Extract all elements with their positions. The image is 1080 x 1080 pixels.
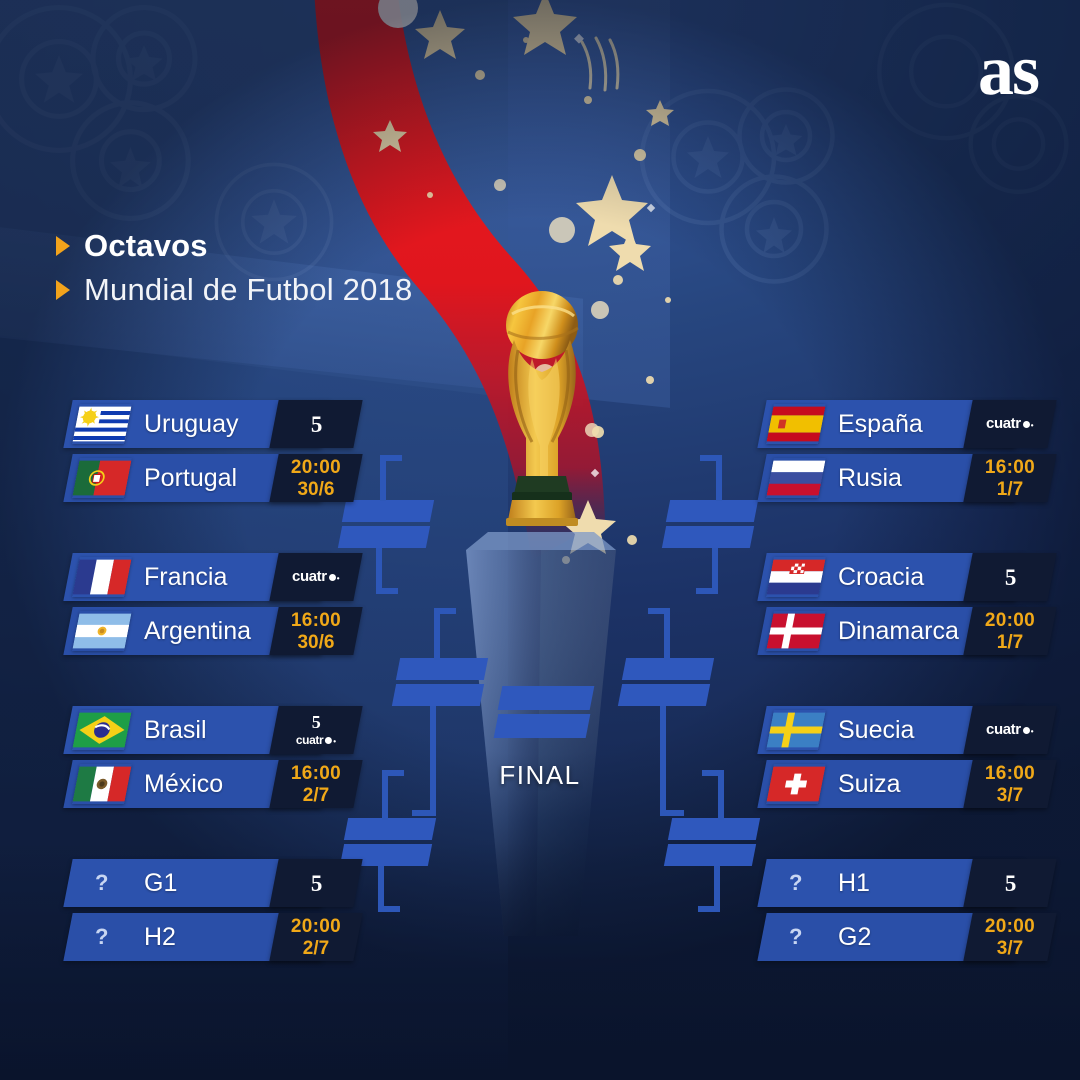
match-row[interactable]: Francia cuatr• [68,553,326,601]
connector-left-c [434,608,440,660]
channel-panel[interactable]: cuatr• [269,553,362,601]
qf-slot-left-1-top[interactable] [342,500,434,522]
match-row[interactable]: ? H2 20:00 2/7 [68,913,326,961]
match: ? H1 5 ? G2 20:00 3/7 [762,859,1020,967]
match-time: 20:00 [985,917,1035,936]
match-row[interactable]: Suiza 16:00 3/7 [762,760,1020,808]
connector-left-a2 [380,455,402,461]
unknown-team-flag: ? [72,863,132,903]
channel-panel[interactable]: 5 [269,400,362,448]
telecinco-logo: 5 [1005,565,1016,590]
qf-slot-left-3-top[interactable] [344,818,436,840]
telecinco-logo: 5 [1005,871,1016,896]
match-time: 16:00 [985,764,1035,783]
connector-right-c [664,608,670,660]
connector-right-e2 [702,770,724,776]
match-date: 1/7 [985,480,1035,499]
unknown-team-flag: ? [766,917,826,957]
flag-suiza [766,764,826,804]
flag-espana [766,404,826,444]
connector-right-f2 [698,906,720,912]
channel-panel[interactable]: 5 [269,859,362,907]
match-time-panel: 20:00 30/6 [269,454,362,502]
qf-slot-right-2-top[interactable] [622,658,714,680]
match-row[interactable]: Argentina 16:00 30/6 [68,607,326,655]
qf-slot-right-1-top[interactable] [666,500,758,522]
match-time-panel: 20:00 3/7 [963,913,1056,961]
connector-right-d2 [660,810,684,816]
final-slot-bottom[interactable] [494,714,591,738]
flag-rusia [766,458,826,498]
final-label: FINAL [465,760,615,791]
connector-right-a [716,455,722,501]
match-row[interactable]: Dinamarca 20:00 1/7 [762,607,1020,655]
match-time-panel: 16:00 3/7 [963,760,1056,808]
match-row[interactable]: Portugal 20:00 30/6 [68,454,326,502]
channel-panel[interactable]: 5 [963,859,1056,907]
match-row[interactable]: ? G1 5 [68,859,326,907]
connector-left-b2 [376,588,398,594]
connector-left-d2 [412,810,436,816]
connector-left-e [382,770,388,820]
match-date: 3/7 [985,939,1035,958]
channel-panel[interactable]: cuatr• [963,400,1056,448]
match-time: 16:00 [985,458,1035,477]
flag-croacia [766,557,826,597]
cuatro-logo: cuatr• [986,722,1033,737]
connector-right-a2 [700,455,722,461]
qf-slot-right-3-top[interactable] [668,818,760,840]
match-row[interactable]: ? G2 20:00 3/7 [762,913,1020,961]
connector-left-a [380,455,386,501]
match-time: 20:00 [291,458,341,477]
qf-slot-left-2-bottom[interactable] [392,684,484,706]
match: Uruguay 5 Portugal 20:00 30/6 [68,400,326,508]
match-row[interactable]: Rusia 16:00 1/7 [762,454,1020,502]
match-time: 16:00 [291,611,341,630]
flag-suecia [766,710,826,750]
connector-right-b2 [696,588,718,594]
match-time-panel: 20:00 2/7 [269,913,362,961]
match-date: 30/6 [291,480,341,499]
match-time-panel: 16:00 2/7 [269,760,362,808]
connector-left-e2 [382,770,404,776]
match-row[interactable]: España cuatr• [762,400,1020,448]
match-row[interactable]: Suecia cuatr• [762,706,1020,754]
match: Brasil 5 cuatr• México 16:00 2/7 [68,706,326,814]
match-row[interactable]: México 16:00 2/7 [68,760,326,808]
match-time: 20:00 [985,611,1035,630]
qf-slot-left-2-top[interactable] [396,658,488,680]
cuatro-logo: cuatr• [986,416,1033,431]
flag-uruguay [72,404,132,444]
match-time-panel: 16:00 30/6 [269,607,362,655]
channel-panel[interactable]: 5 cuatr• [269,706,362,754]
match-time: 16:00 [291,764,341,783]
match-time-panel: 20:00 1/7 [963,607,1056,655]
cuatro-logo: cuatr• [292,569,339,584]
channel-panel[interactable]: cuatr• [963,706,1056,754]
match-time-panel: 16:00 1/7 [963,454,1056,502]
flag-portugal [72,458,132,498]
match-date: 2/7 [291,939,341,958]
flag-argentina [72,611,132,651]
connector-right-d [660,706,666,816]
qf-slot-right-1-bottom[interactable] [662,526,754,548]
flag-brasil [72,710,132,750]
flag-mexico [72,764,132,804]
qf-slot-left-1-bottom[interactable] [338,526,430,548]
connector-right-c2 [648,608,670,614]
connector-left-c2 [434,608,456,614]
cuatro-logo: cuatr• [296,734,336,746]
match-row[interactable]: Uruguay 5 [68,400,326,448]
match-row[interactable]: ? H1 5 [762,859,1020,907]
qf-slot-right-3-bottom[interactable] [664,844,756,866]
channel-panel[interactable]: 5 [963,553,1056,601]
match-time: 20:00 [291,917,341,936]
match: España cuatr• Rusia 16:00 1/7 [762,400,1020,508]
match: Suecia cuatr• Suiza 16:00 3/7 [762,706,1020,814]
telecinco-logo: 5 [311,412,322,437]
infographic-stage: as Octavos Mundial de Futbol 2018 [0,0,1080,1080]
telecinco-logo: 5 [296,713,336,731]
match-row[interactable]: Croacia 5 [762,553,1020,601]
telecinco-logo: 5 [311,871,322,896]
connector-right-e [718,770,724,820]
qf-slot-right-2-bottom[interactable] [618,684,710,706]
final-slot-top[interactable] [498,686,595,710]
match-date: 1/7 [985,633,1035,652]
match-date: 3/7 [985,786,1035,805]
unknown-team-flag: ? [766,863,826,903]
match-date: 2/7 [291,786,341,805]
match: Francia cuatr• Argentina 16:00 30/6 [68,553,326,661]
match-date: 30/6 [291,633,341,652]
match: Croacia 5 Dinamarca 20:00 1/7 [762,553,1020,661]
flag-dinamarca [766,611,826,651]
unknown-team-flag: ? [72,917,132,957]
match-row[interactable]: Brasil 5 cuatr• [68,706,326,754]
connector-left-f2 [378,906,400,912]
flag-francia [72,557,132,597]
connector-left-d [430,706,436,816]
match: ? G1 5 ? H2 20:00 2/7 [68,859,326,967]
